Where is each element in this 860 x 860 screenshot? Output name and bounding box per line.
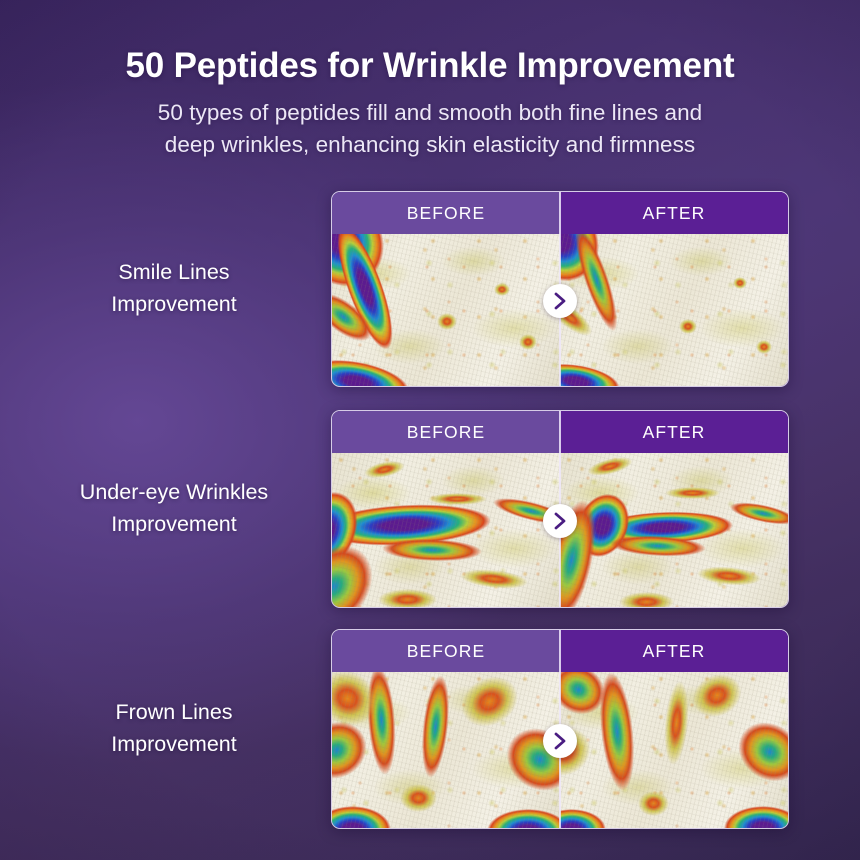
wrinkle-ridge — [679, 319, 697, 334]
skin-scan-image-after — [560, 453, 788, 607]
before-pane: BEFORE — [332, 192, 560, 386]
row-label-line-2: Improvement — [111, 729, 236, 761]
row-label-line-2: Improvement — [111, 509, 236, 541]
wrinkle-ridge — [619, 592, 674, 607]
skin-scan-image-after — [560, 672, 788, 828]
chevron-right-icon[interactable] — [543, 284, 577, 318]
before-pane: BEFORE — [332, 411, 560, 607]
page-subtitle: 50 types of peptides fill and smooth bot… — [0, 97, 860, 161]
before-label: BEFORE — [332, 630, 560, 672]
skin-scan-image-before — [332, 453, 560, 607]
row-label-frown-lines: Frown Lines Improvement — [24, 629, 324, 829]
subtitle-line-2: deep wrinkles, enhancing skin elasticity… — [0, 129, 860, 161]
comparison-card-frown-lines[interactable]: BEFORE AFTER — [331, 629, 789, 829]
comparison-card-under-eye-wrinkles[interactable]: BEFORE AFTER — [331, 410, 789, 608]
skin-scan-image-after — [560, 234, 788, 386]
comparison-card-smile-lines[interactable]: BEFORE AFTER — [331, 191, 789, 387]
skin-scan-image-before — [332, 234, 560, 386]
after-pane: AFTER — [560, 630, 788, 828]
before-label: BEFORE — [332, 411, 560, 453]
wrinkle-ridge — [665, 487, 720, 499]
page-title: 50 Peptides for Wrinkle Improvement — [0, 46, 860, 86]
wrinkle-ridge — [519, 334, 537, 349]
wrinkle-ridge — [756, 340, 772, 354]
comparison-row-under-eye-wrinkles: Under-eye Wrinkles Improvement BEFORE — [0, 410, 860, 608]
wrinkle-ridge — [638, 791, 670, 816]
wrinkle-ridge — [494, 283, 510, 297]
row-label-under-eye-wrinkles: Under-eye Wrinkles Improvement — [24, 410, 324, 608]
wrinkle-ridge — [378, 589, 437, 607]
before-label: BEFORE — [332, 192, 560, 234]
after-pane: AFTER — [560, 411, 788, 607]
after-pane: AFTER — [560, 192, 788, 386]
wrinkle-ridge — [437, 313, 458, 330]
row-label-line-2: Improvement — [111, 289, 236, 321]
skin-scan-image-before — [332, 672, 560, 828]
subtitle-line-1: 50 types of peptides fill and smooth bot… — [0, 97, 860, 129]
after-label: AFTER — [560, 192, 788, 234]
row-label-line-1: Frown Lines — [115, 697, 232, 729]
after-label: AFTER — [560, 411, 788, 453]
row-label-smile-lines: Smile Lines Improvement — [24, 191, 324, 387]
header: 50 Peptides for Wrinkle Improvement 50 t… — [0, 0, 860, 161]
chevron-right-icon[interactable] — [543, 724, 577, 758]
row-label-line-1: Under-eye Wrinkles — [80, 477, 268, 509]
wrinkle-ridge — [733, 277, 747, 289]
after-label: AFTER — [560, 630, 788, 672]
row-label-line-1: Smile Lines — [118, 257, 229, 289]
comparison-row-frown-lines: Frown Lines Improvement BEFORE — [0, 629, 860, 829]
before-pane: BEFORE — [332, 630, 560, 828]
comparison-row-smile-lines: Smile Lines Improvement BEFORE — [0, 191, 860, 387]
chevron-right-icon[interactable] — [543, 504, 577, 538]
